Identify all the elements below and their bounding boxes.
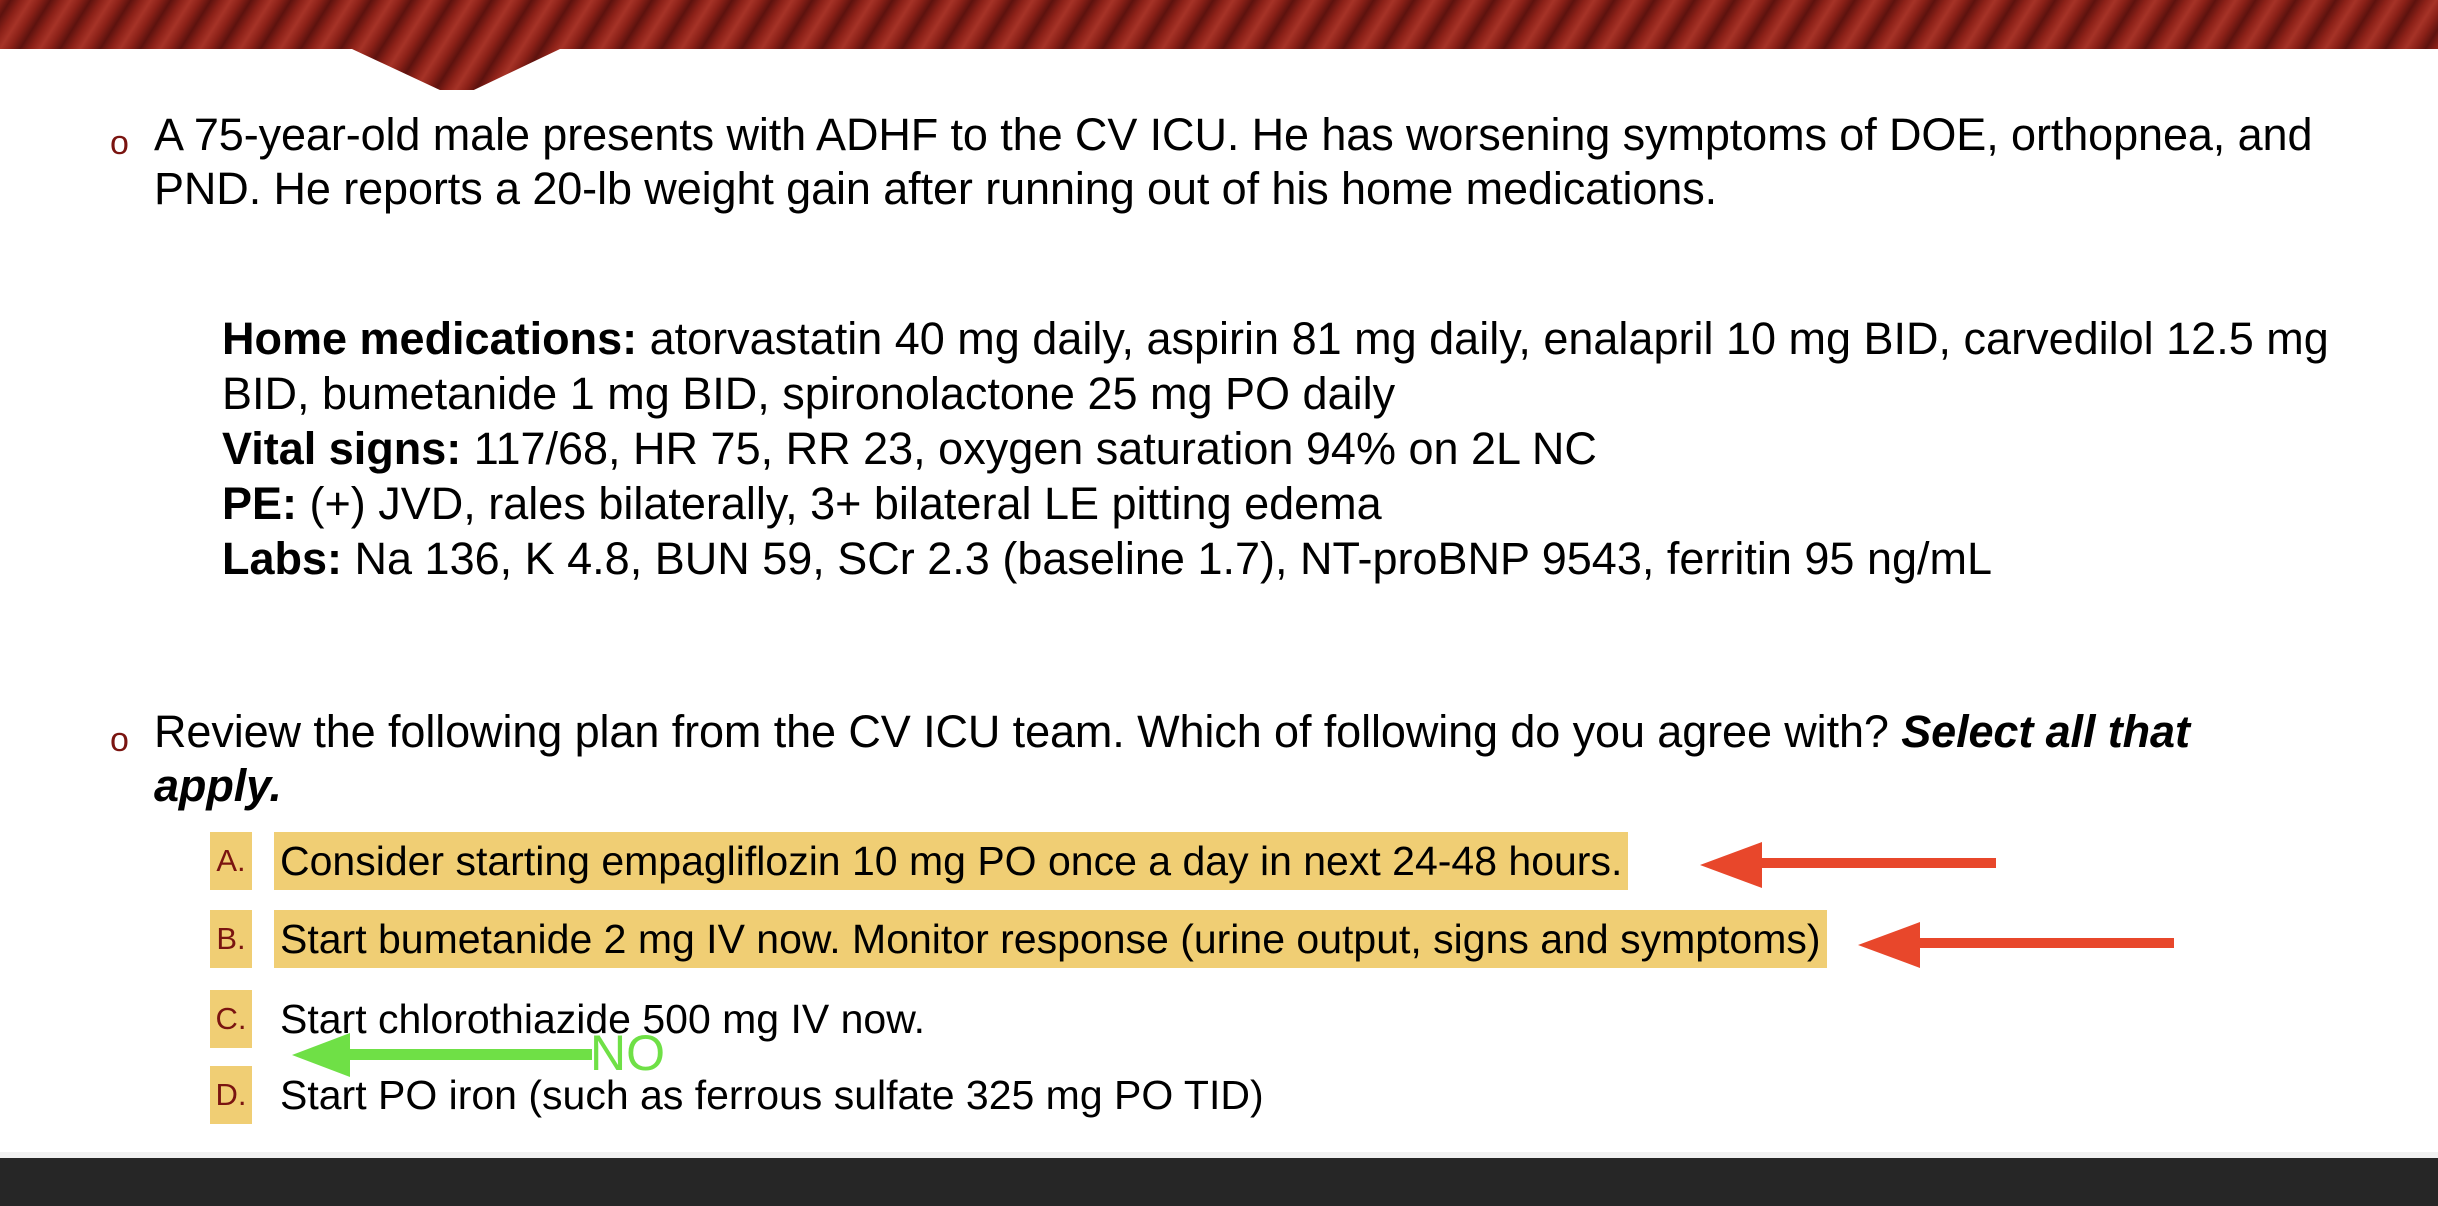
detail-line-labs: Labs: Na 136, K 4.8, BUN 59, SCr 2.3 (ba… bbox=[222, 532, 2352, 587]
detail-line-pe: PE: (+) JVD, rales bilaterally, 3+ bilat… bbox=[222, 477, 2352, 532]
option-marker-a: A. bbox=[210, 832, 252, 890]
detail-line-home-medications: Home medications: atorvastatin 40 mg dai… bbox=[222, 312, 2352, 422]
detail-value-vital-signs: 117/68, HR 75, RR 23, oxygen saturation … bbox=[461, 423, 1597, 474]
case-vignette-bullet: o A 75-year-old male presents with ADHF … bbox=[110, 108, 2340, 216]
detail-value-pe: (+) JVD, rales bilaterally, 3+ bilateral… bbox=[297, 478, 1382, 529]
detail-value-labs: Na 136, K 4.8, BUN 59, SCr 2.3 (baseline… bbox=[342, 533, 1992, 584]
detail-label-vital-signs: Vital signs: bbox=[222, 423, 461, 474]
detail-label-labs: Labs: bbox=[222, 533, 342, 584]
question-stem-main: Review the following plan from the CV IC… bbox=[154, 706, 1901, 757]
bullet-circle-icon: o bbox=[110, 108, 154, 160]
option-marker-c: C. bbox=[210, 990, 252, 1048]
question-stem-text: Review the following plan from the CV IC… bbox=[154, 705, 2324, 813]
viewer-bottom-bar bbox=[0, 1158, 2438, 1206]
detail-label-home-medications: Home medications: bbox=[222, 313, 637, 364]
slide-content: o A 75-year-old male presents with ADHF … bbox=[0, 0, 2438, 1150]
option-text-b[interactable]: Start bumetanide 2 mg IV now. Monitor re… bbox=[274, 910, 1827, 968]
slide-canvas: o A 75-year-old male presents with ADHF … bbox=[0, 0, 2438, 1206]
option-text-d[interactable]: Start PO iron (such as ferrous sulfate 3… bbox=[274, 1066, 1270, 1124]
detail-line-vital-signs: Vital signs: 117/68, HR 75, RR 23, oxyge… bbox=[222, 422, 2352, 477]
question-stem-bullet: o Review the following plan from the CV … bbox=[110, 705, 2340, 813]
answer-options-list: A. Consider starting empagliflozin 10 mg… bbox=[210, 832, 2210, 1132]
option-marker-d: D. bbox=[210, 1066, 252, 1124]
case-vignette-text: A 75-year-old male presents with ADHF to… bbox=[154, 108, 2324, 216]
answer-option-b[interactable]: B. Start bumetanide 2 mg IV now. Monitor… bbox=[210, 910, 2210, 968]
case-details-block: Home medications: atorvastatin 40 mg dai… bbox=[222, 312, 2352, 586]
option-text-a[interactable]: Consider starting empagliflozin 10 mg PO… bbox=[274, 832, 1628, 890]
option-marker-b: B. bbox=[210, 910, 252, 968]
bullet-circle-icon: o bbox=[110, 705, 154, 757]
answer-option-c[interactable]: C. Start chlorothiazide 500 mg IV now. bbox=[210, 990, 2210, 1048]
answer-option-a[interactable]: A. Consider starting empagliflozin 10 mg… bbox=[210, 832, 2210, 890]
detail-label-pe: PE: bbox=[222, 478, 297, 529]
answer-option-d[interactable]: D. Start PO iron (such as ferrous sulfat… bbox=[210, 1066, 2210, 1124]
no-annotation-label: NO bbox=[590, 1028, 665, 1078]
